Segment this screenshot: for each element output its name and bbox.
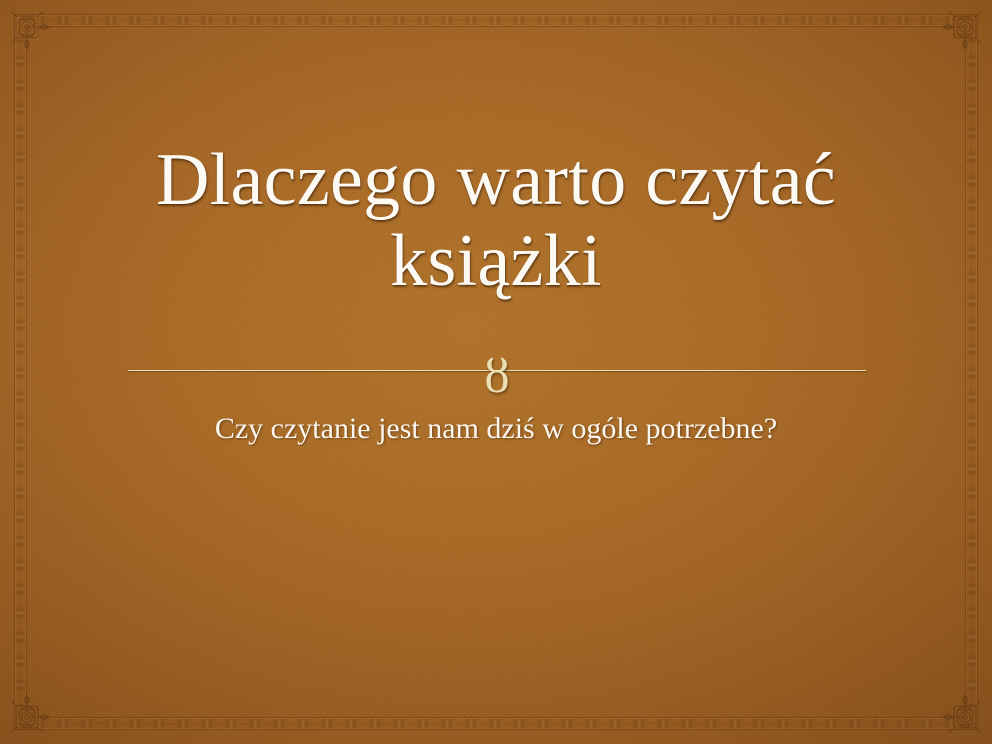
subtitle-placeholder[interactable]: Czy czytanie jest nam dziś w ogóle potrz… — [200, 408, 792, 451]
ornament-divider: ȣ — [128, 352, 866, 398]
title-slide: Dlaczego warto czytać książki ȣ Czy czyt… — [0, 0, 992, 744]
page-title: Dlaczego warto czytać książki — [96, 140, 896, 303]
page-subtitle: Czy czytanie jest nam dziś w ogóle potrz… — [200, 408, 792, 451]
divider-ornament: ȣ — [479, 352, 516, 398]
cb-flourish-ornament-icon: ȣ — [485, 352, 510, 398]
title-placeholder[interactable]: Dlaczego warto czytać książki — [96, 140, 896, 303]
